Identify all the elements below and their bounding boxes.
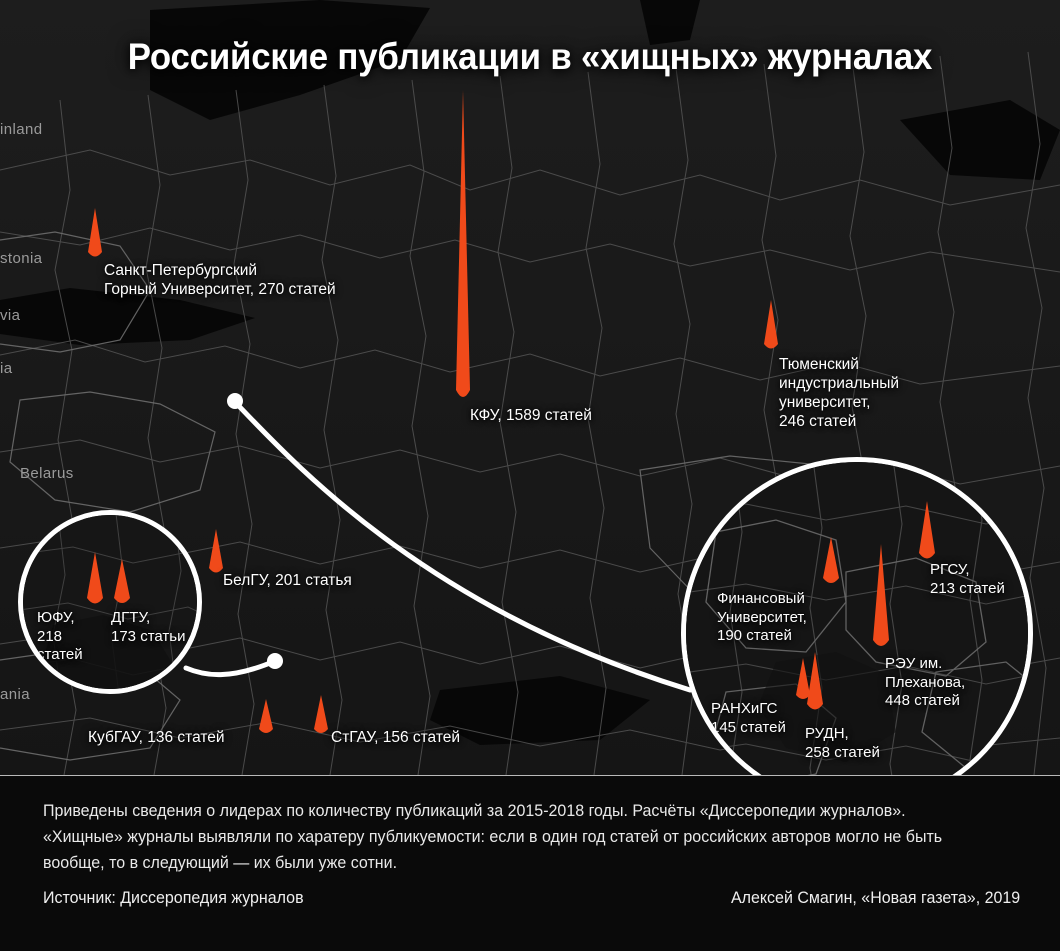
page-title: Российские публикации в «хищных» журнала… (32, 36, 1028, 78)
label-yufu: ЮФУ, 218 статей (37, 609, 83, 665)
label-finuniv: Финансовый Университет, 190 статей (717, 590, 807, 646)
moscow-magnifier[interactable]: Финансовый Университет, 190 статей РГСУ,… (681, 457, 1033, 775)
label-rea-plekhanov: РЭУ им. Плеханова, 448 статей (885, 655, 965, 711)
label-ranhigs: РАНХиГС 145 статей (711, 700, 786, 737)
label-rudn: РУДН, 258 статей (805, 725, 880, 762)
city-dot-rostov[interactable] (267, 653, 283, 669)
label-kfu: КФУ, 1589 статей (470, 406, 592, 425)
label-dgtu: ДГТУ, 173 статьи (111, 609, 185, 646)
spike-rea-plekhanov[interactable] (867, 544, 895, 650)
label-tyumen: Тюменский индустриальный университет, 24… (779, 355, 899, 431)
spike-kfu[interactable] (452, 90, 474, 402)
spike-kubgau[interactable] (254, 699, 278, 735)
footer: Приведены сведения о лидерах по количест… (0, 775, 1060, 951)
footer-credit: Алексей Смагин, «Новая газета», 2019 (731, 889, 1020, 908)
city-dot-moscow[interactable] (227, 393, 243, 409)
map-canvas: inland stonia via ia Belarus ania Санкт-… (0, 0, 1060, 775)
spike-spbgu-mining[interactable] (81, 208, 109, 260)
infographic-root: inland stonia via ia Belarus ania Санкт-… (0, 0, 1060, 951)
spike-yufu[interactable] (80, 552, 110, 608)
spike-dgtu[interactable] (108, 559, 136, 607)
label-rgsu: РГСУ, 213 статей (930, 561, 1005, 598)
label-kubgau: КубГАУ, 136 статей (88, 728, 225, 747)
label-stgau: СтГАУ, 156 статей (331, 728, 460, 747)
spike-stgau[interactable] (309, 695, 333, 735)
label-spbgu-mining: Санкт-Петербургский Горный Университет, … (104, 261, 336, 299)
rostov-magnifier[interactable]: ЮФУ, 218 статей ДГТУ, 173 статьи (18, 510, 202, 694)
spike-belgu[interactable] (203, 529, 229, 575)
footer-source: Источник: Диссеропедия журналов (43, 889, 304, 908)
spike-rudn[interactable] (801, 652, 829, 714)
spike-tyumen[interactable] (757, 300, 785, 352)
footer-note: Приведены сведения о лидерах по количест… (43, 798, 989, 876)
label-belgu: БелГУ, 201 статья (223, 571, 352, 590)
spike-finuniv[interactable] (817, 537, 845, 587)
spike-rgsu[interactable] (913, 501, 941, 563)
